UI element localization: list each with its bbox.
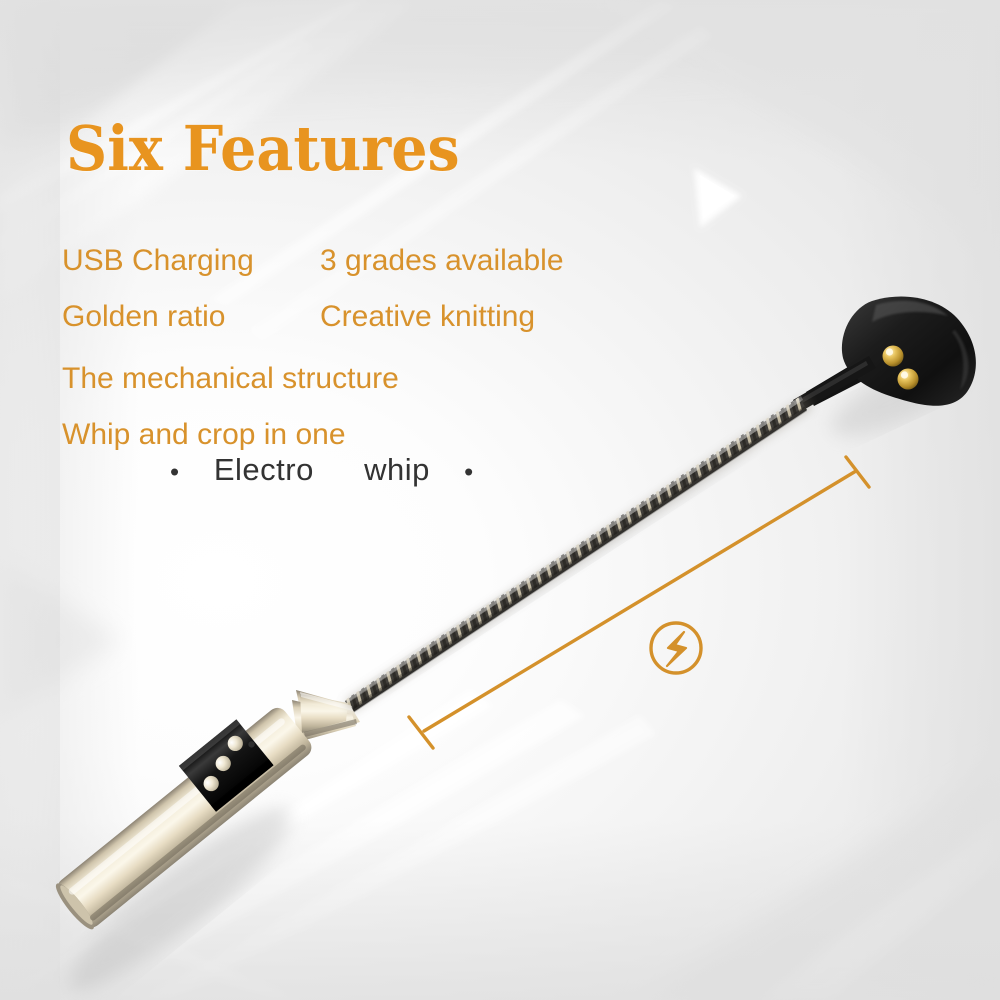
product-marketing-image: Six Features USB Charging 3 grades avail…: [0, 0, 1000, 1000]
dimension-line: [409, 457, 869, 748]
lightning-bolt-icon: [651, 623, 701, 673]
dimension-annotation: [0, 0, 1000, 1000]
